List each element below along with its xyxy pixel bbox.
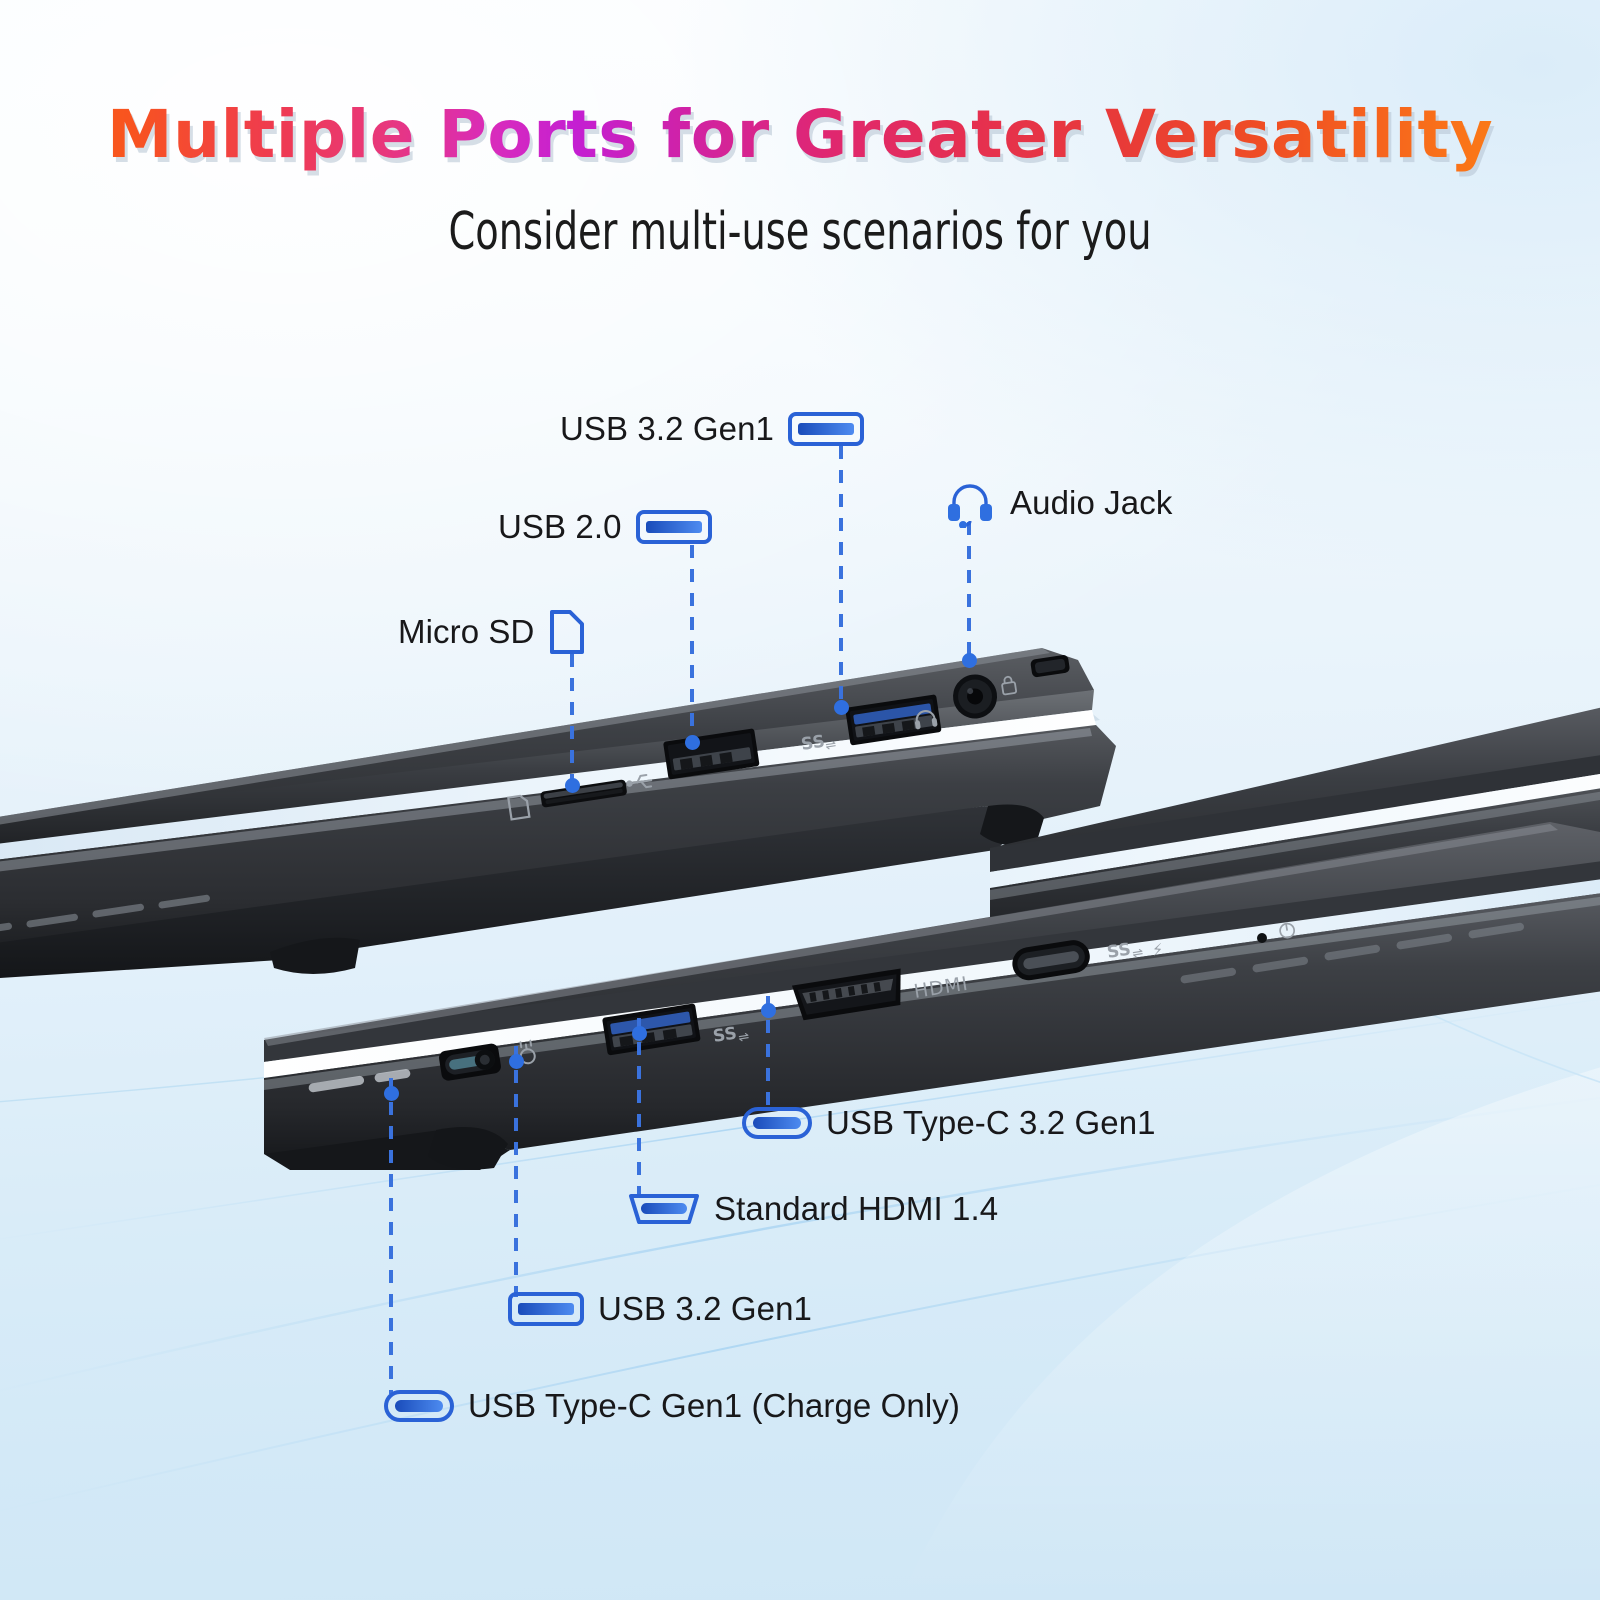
anchor-dot-usbc-charge (384, 1086, 399, 1101)
headset-icon (944, 478, 996, 528)
usb-a-port-icon (788, 412, 864, 446)
callout-usb-32-gen1-top[interactable]: USB 3.2 Gen1 (560, 410, 864, 448)
callout-micro-sd[interactable]: Micro SD (398, 608, 586, 656)
anchor-dot-audiojack (962, 653, 977, 668)
callout-label: USB Type-C Gen1 (Charge Only) (468, 1387, 960, 1425)
callout-standard-hdmi-14[interactable]: Standard HDMI 1.4 (628, 1190, 998, 1228)
callout-leader-lines (0, 0, 1600, 1600)
anchor-dot-hdmi (632, 1026, 647, 1041)
callout-usb-20[interactable]: USB 2.0 (498, 508, 712, 546)
callout-label: USB Type-C 3.2 Gen1 (826, 1104, 1156, 1142)
callout-label: Audio Jack (1010, 484, 1172, 522)
callout-label: Standard HDMI 1.4 (714, 1190, 998, 1228)
callout-label: Micro SD (398, 613, 534, 651)
anchor-dot-usb20 (685, 735, 700, 750)
anchor-dot-microsd (565, 778, 580, 793)
callout-label: USB 2.0 (498, 508, 622, 546)
callout-usb-32-gen1-bottom[interactable]: USB 3.2 Gen1 (508, 1290, 812, 1328)
callout-audio-jack[interactable]: Audio Jack (944, 478, 1172, 528)
infographic-canvas: Multiple Ports for Greater Versatility C… (0, 0, 1600, 1600)
usb-c-port-icon (742, 1107, 812, 1139)
anchor-dot-usb32-bottom (509, 1054, 524, 1069)
micro-sd-card-icon (548, 608, 586, 656)
anchor-dot-usbc32 (761, 1003, 776, 1018)
hdmi-port-icon (628, 1192, 700, 1226)
anchor-dot-usb32-top (834, 700, 849, 715)
usb-a-port-icon (508, 1292, 584, 1326)
callout-usb-type-c-32-gen1[interactable]: USB Type-C 3.2 Gen1 (742, 1104, 1156, 1142)
usb-c-port-icon (384, 1390, 454, 1422)
callout-label: USB 3.2 Gen1 (598, 1290, 812, 1328)
callout-usb-type-c-gen1-charge-only[interactable]: USB Type-C Gen1 (Charge Only) (384, 1387, 960, 1425)
usb-a-port-icon (636, 510, 712, 544)
callout-label: USB 3.2 Gen1 (560, 410, 774, 448)
